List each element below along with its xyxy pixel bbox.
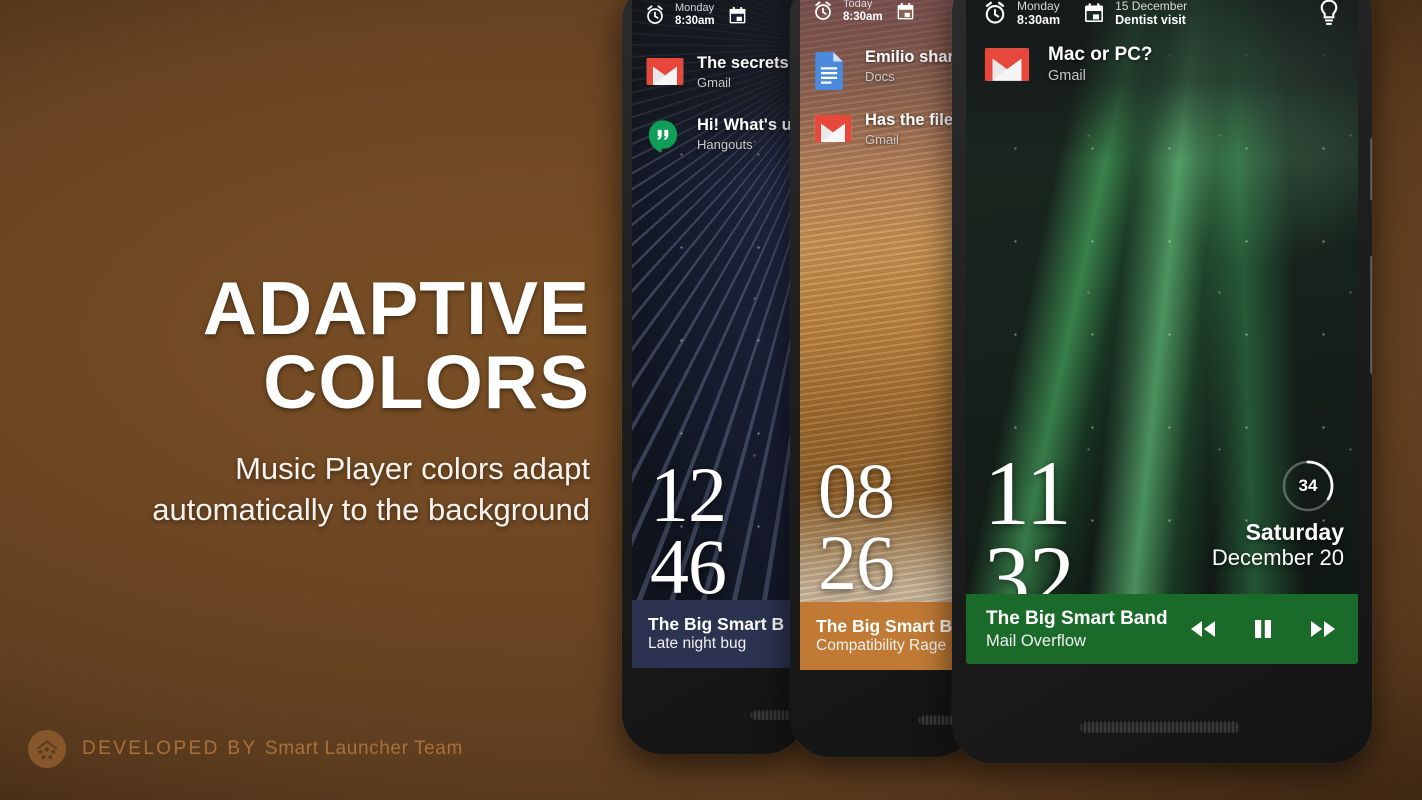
hangouts-icon xyxy=(646,119,684,149)
notification-app: Gmail xyxy=(1048,68,1153,85)
phone-left: Monday 8:30am xyxy=(622,0,805,754)
alarm-time: 8:30am xyxy=(1017,13,1060,28)
track-title: The Big Smart B xyxy=(648,614,781,635)
phone-left-screen[interactable]: Monday 8:30am xyxy=(632,0,797,668)
phone-front: Monday 8:30am 15 December Dentist visit xyxy=(952,0,1372,763)
phone-front-statusbar: Monday 8:30am 15 December Dentist visit xyxy=(966,0,1358,28)
alarm-time: 8:30am xyxy=(843,11,883,25)
calendar-widget[interactable] xyxy=(727,5,748,26)
smart-launcher-logo-icon xyxy=(28,730,66,768)
alarm-day: Today xyxy=(843,0,883,11)
notification-app: Docs xyxy=(865,69,953,85)
notification-row[interactable]: Hi! What's u Hangouts xyxy=(632,116,797,152)
battery-indicator[interactable]: 34 xyxy=(1280,458,1336,514)
speaker-grille xyxy=(750,709,792,720)
alarm-clock-icon xyxy=(982,0,1008,26)
track-title: The Big Smart B xyxy=(816,616,951,637)
alarm-time: 8:30am xyxy=(675,15,715,29)
marketing-copy: ADAPTIVE COLORS Music Player colors adap… xyxy=(0,272,610,531)
brand-name: Smart Launcher Team xyxy=(265,738,463,759)
event-title: Dentist visit xyxy=(1115,13,1187,28)
clock-hours: 12 xyxy=(650,459,726,531)
alarm-widget[interactable]: Monday 8:30am xyxy=(982,0,1060,27)
alarm-widget[interactable]: Today 8:30am xyxy=(812,0,883,25)
phone-left-music-player[interactable]: The Big Smart B Late night bug xyxy=(632,600,797,668)
track-subtitle: Compatibility Rage xyxy=(816,637,951,656)
notification-title: The secrets xyxy=(697,54,783,74)
phone-left-statusbar: Monday 8:30am xyxy=(632,0,797,29)
date-widget[interactable]: Saturday December 20 xyxy=(1212,520,1344,570)
date-month-day: December 20 xyxy=(1212,546,1344,571)
google-docs-icon xyxy=(814,51,852,81)
speaker-grille xyxy=(1080,720,1240,733)
track-title: The Big Smart Band xyxy=(986,607,1188,630)
date-weekday: Saturday xyxy=(1212,520,1344,546)
clock-minutes: 46 xyxy=(650,531,726,603)
gmail-icon xyxy=(984,47,1030,82)
alarm-day: Monday xyxy=(1017,0,1060,13)
phone-front-music-player[interactable]: The Big Smart Band Mail Overflow xyxy=(966,594,1358,664)
calendar-event-widget[interactable]: 15 December Dentist visit xyxy=(1082,0,1187,27)
subheadline-line-2: automatically to the background xyxy=(0,490,590,531)
next-track-icon[interactable] xyxy=(1308,618,1338,640)
notification-app: Hangouts xyxy=(697,137,783,153)
notification-title: Hi! What's u xyxy=(697,116,783,136)
brand-label: DEVELOPED BY Smart Launcher Team xyxy=(82,738,463,760)
headline-line-2: COLORS xyxy=(0,346,590,420)
lightbulb-icon[interactable] xyxy=(1316,0,1342,28)
notification-title: Mac or PC? xyxy=(1048,44,1153,67)
phone-middle-clock[interactable]: 08 26 xyxy=(818,455,894,599)
phone-left-clock[interactable]: 12 46 xyxy=(650,459,726,603)
gmail-icon xyxy=(646,57,684,87)
notification-title: Has the file xyxy=(865,111,953,131)
brand-prefix: DEVELOPED BY xyxy=(82,738,265,759)
alarm-widget[interactable]: Monday 8:30am xyxy=(644,2,715,29)
notification-title: Emilio shar xyxy=(865,48,953,68)
clock-hours: 11 xyxy=(984,451,1074,536)
notification-row[interactable]: The secrets Gmail xyxy=(632,54,797,90)
volume-rocker-button[interactable] xyxy=(1370,256,1372,374)
alarm-day: Monday xyxy=(675,2,715,15)
alarm-clock-icon xyxy=(644,4,666,26)
notification-row[interactable]: Has the file Gmail xyxy=(800,111,967,147)
notification-app: Gmail xyxy=(697,75,783,91)
phone-front-screen[interactable]: Monday 8:30am 15 December Dentist visit xyxy=(966,0,1358,664)
clock-minutes: 26 xyxy=(818,527,894,599)
calendar-icon xyxy=(895,1,916,22)
notification-row[interactable]: Mac or PC? Gmail xyxy=(966,44,1358,85)
subheadline-line-1: Music Player colors adapt xyxy=(0,449,590,490)
event-date: 15 December xyxy=(1115,0,1187,13)
previous-track-icon[interactable] xyxy=(1188,618,1218,640)
calendar-widget[interactable] xyxy=(895,1,916,22)
notification-row[interactable]: Emilio shar Docs xyxy=(800,48,967,84)
track-subtitle: Mail Overflow xyxy=(986,631,1188,651)
brand-footer: DEVELOPED BY Smart Launcher Team xyxy=(28,730,463,768)
headline-line-1: ADAPTIVE xyxy=(0,272,590,346)
track-subtitle: Late night bug xyxy=(648,635,781,654)
phone-middle-music-player[interactable]: The Big Smart B Compatibility Rage xyxy=(800,602,967,670)
battery-percent: 34 xyxy=(1280,458,1336,514)
gmail-icon xyxy=(814,114,852,144)
pause-icon[interactable] xyxy=(1252,617,1274,641)
calendar-icon xyxy=(1082,1,1106,25)
phone-middle: Today 8:30am xyxy=(790,0,975,757)
phone-middle-screen[interactable]: Today 8:30am xyxy=(800,0,967,670)
notification-app: Gmail xyxy=(865,132,953,148)
calendar-icon xyxy=(727,5,748,26)
alarm-clock-icon xyxy=(812,0,834,22)
clock-hours: 08 xyxy=(818,455,894,527)
power-button[interactable] xyxy=(1370,138,1372,200)
phone-middle-statusbar: Today 8:30am xyxy=(800,0,967,25)
